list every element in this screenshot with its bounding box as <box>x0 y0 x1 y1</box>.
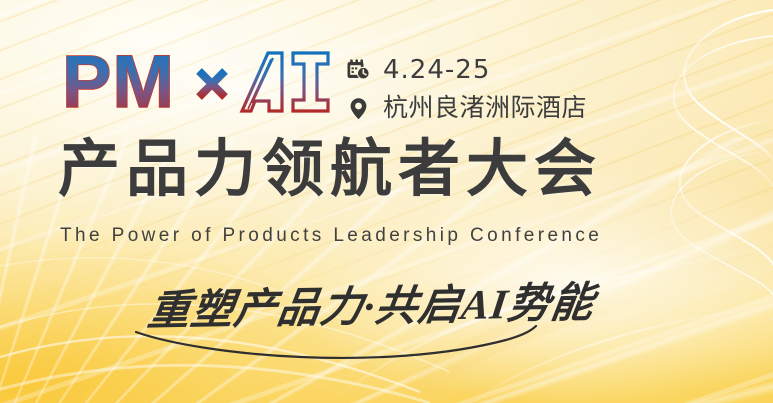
event-date-line: 4.24-25 <box>345 54 587 86</box>
conference-poster: PM <box>0 0 773 403</box>
logo-text-ai <box>242 53 328 111</box>
location-pin-icon <box>345 95 371 121</box>
page-title: 产品力领航者大会 <box>58 139 602 201</box>
page-subtitle: The Power of Products Leadership Confere… <box>60 226 602 245</box>
event-date-text: 4.24-25 <box>383 57 490 83</box>
pm-x-ai-logo-mark: PM <box>62 41 334 123</box>
event-meta: 4.24-25 杭州良渚洲际酒店 <box>345 54 587 124</box>
calendar-clock-icon <box>345 57 371 83</box>
tagline-group: 重塑产品力·共启AI势能 <box>148 288 548 368</box>
tagline-underline-swoosh <box>134 326 538 370</box>
event-venue-text: 杭州良渚洲际酒店 <box>383 96 587 121</box>
logo-multiply-icon <box>199 71 225 97</box>
logo-text-pm: PM <box>62 41 175 123</box>
event-venue-line: 杭州良渚洲际酒店 <box>345 92 587 124</box>
brand-logo: PM <box>62 41 334 123</box>
